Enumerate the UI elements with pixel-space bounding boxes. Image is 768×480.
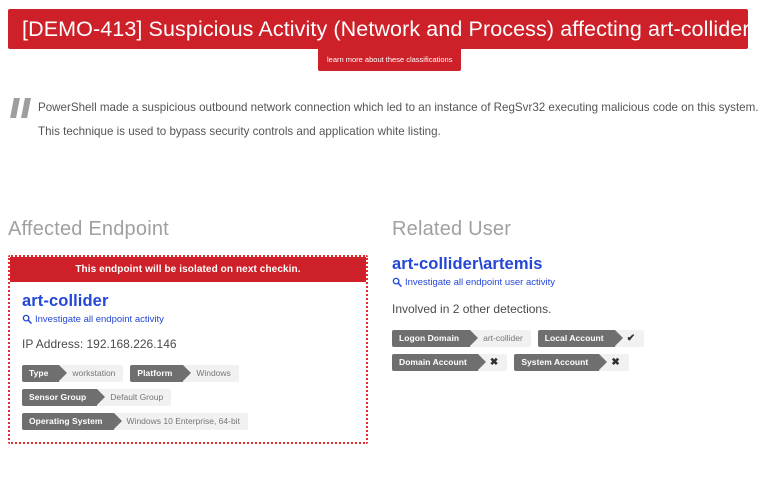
badge-sensor-group-value: Default Group xyxy=(97,389,171,406)
description-line-1: PowerShell made a suspicious outbound ne… xyxy=(38,96,748,120)
description-blockquote: PowerShell made a suspicious outbound ne… xyxy=(0,96,768,145)
badge-operating-system-value: Windows 10 Enterprise, 64-bit xyxy=(114,413,248,430)
related-user-section: Related User art-collider\artemis Invest… xyxy=(392,218,762,371)
search-icon xyxy=(22,314,32,324)
affected-endpoint-card: This endpoint will be isolated on next c… xyxy=(8,255,368,444)
investigate-endpoint-activity-label: Investigate all endpoint activity xyxy=(35,314,164,325)
badge-sensor-group[interactable]: Sensor Group Default Group xyxy=(22,389,171,406)
badge-sensor-group-label: Sensor Group xyxy=(22,389,97,406)
alert-title-bar: [DEMO-413] Suspicious Activity (Network … xyxy=(8,9,748,49)
badge-domain-account-label: Domain Account xyxy=(392,354,478,371)
badge-logon-domain-label: Logon Domain xyxy=(392,330,470,347)
badge-type-label: Type xyxy=(22,365,59,382)
badge-operating-system-label: Operating System xyxy=(22,413,114,430)
page-title: [DEMO-413] Suspicious Activity (Network … xyxy=(22,17,750,42)
endpoint-attribute-badges: Type workstation Platform Windows Sensor… xyxy=(22,365,354,430)
badge-domain-account[interactable]: Domain Account ✖ xyxy=(392,354,507,371)
related-user-attribute-badges: Logon Domain art-collider Local Account … xyxy=(392,330,762,371)
investigate-endpoint-activity-link[interactable]: Investigate all endpoint activity xyxy=(22,314,354,325)
affected-endpoint-heading: Affected Endpoint xyxy=(8,218,380,241)
badge-platform-label: Platform xyxy=(130,365,183,382)
badge-type[interactable]: Type workstation xyxy=(22,365,123,382)
page-header: [DEMO-413] Suspicious Activity (Network … xyxy=(0,9,768,49)
badge-operating-system[interactable]: Operating System Windows 10 Enterprise, … xyxy=(22,413,248,430)
badge-platform-value: Windows xyxy=(183,365,238,382)
badge-logon-domain[interactable]: Logon Domain art-collider xyxy=(392,330,531,347)
related-user-heading: Related User xyxy=(392,218,762,241)
badge-type-value: workstation xyxy=(59,365,123,382)
badge-logon-domain-value: art-collider xyxy=(470,330,531,347)
badge-system-account[interactable]: System Account ✖ xyxy=(514,354,628,371)
badge-platform[interactable]: Platform Windows xyxy=(130,365,238,382)
related-user-name-link[interactable]: art-collider\artemis xyxy=(392,255,762,275)
affected-endpoint-card-body: art-collider Investigate all endpoint ac… xyxy=(10,282,366,430)
endpoint-name-link[interactable]: art-collider xyxy=(22,292,354,312)
description-text: PowerShell made a suspicious outbound ne… xyxy=(38,96,748,145)
affected-endpoint-section: Affected Endpoint This endpoint will be … xyxy=(8,218,380,444)
investigate-user-activity-label: Investigate all endpoint user activity xyxy=(405,277,555,288)
isolation-banner: This endpoint will be isolated on next c… xyxy=(10,257,366,282)
other-detections-count: Involved in 2 other detections. xyxy=(392,302,762,316)
learn-more-classifications-tab[interactable]: learn more about these classifications xyxy=(318,49,461,71)
description-line-2: This technique is used to bypass securit… xyxy=(38,120,748,144)
badge-local-account[interactable]: Local Account ✔ xyxy=(538,330,644,347)
quote-mark-icon xyxy=(10,98,36,120)
badge-system-account-label: System Account xyxy=(514,354,599,371)
investigate-user-activity-link[interactable]: Investigate all endpoint user activity xyxy=(392,277,762,288)
badge-local-account-label: Local Account xyxy=(538,330,615,347)
endpoint-ip-address: IP Address: 192.168.226.146 xyxy=(22,337,354,351)
search-icon xyxy=(392,277,402,287)
